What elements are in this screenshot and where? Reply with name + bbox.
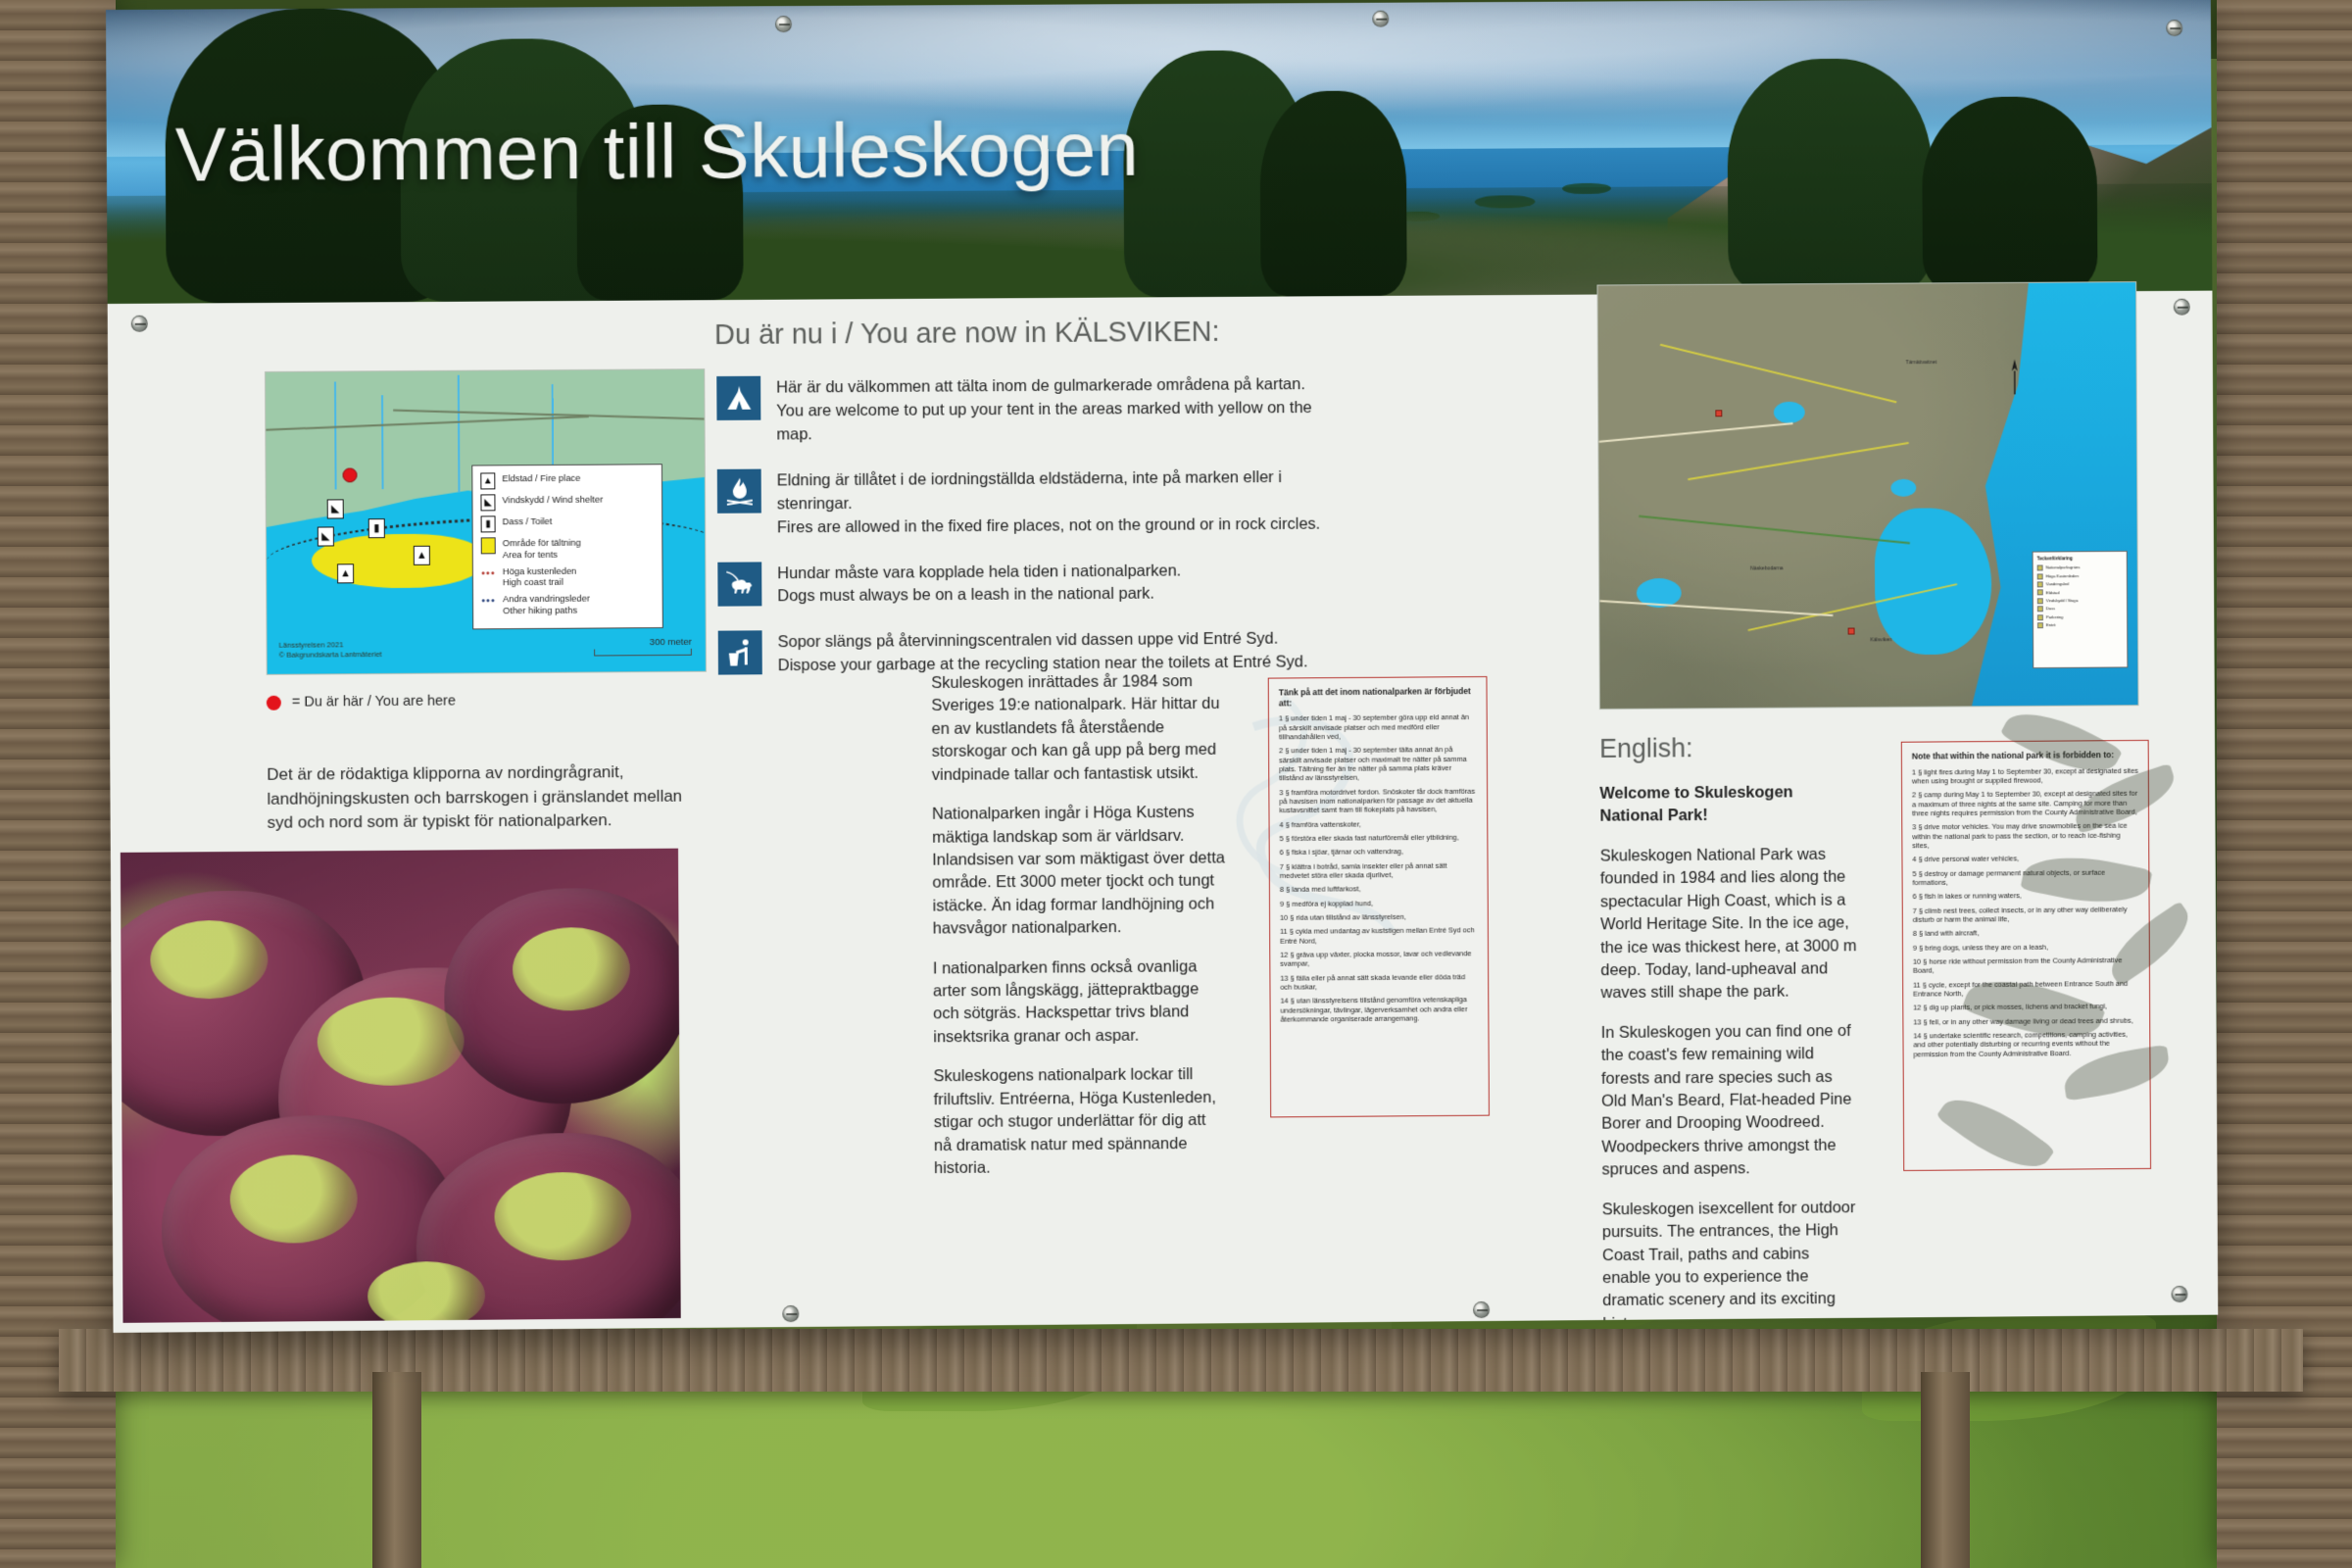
area-map-legend: Teckenförklaring Nationalparksgräns Höga…: [2033, 551, 2129, 668]
map-bay: [1875, 508, 1992, 655]
map-road: [1599, 422, 1793, 443]
rule-english: Dogs must always be on a leash in the na…: [777, 583, 1181, 610]
legend-row: Område för tältning Area for tents: [481, 536, 655, 561]
prohibition-item: 8 § landa med luftfarkost,: [1280, 884, 1478, 895]
rule-english: Fires are allowed in the fixed fire plac…: [777, 513, 1343, 540]
swedish-paragraph: Nationalparken ingår i Höga Kustens mäkt…: [932, 802, 1225, 941]
map-pin-shelter: ◣: [318, 526, 334, 546]
legend-swatch: [2037, 622, 2043, 628]
prohibitions-title: Note that within the national park it is…: [1912, 750, 2138, 761]
pine-tree: [1259, 90, 1406, 296]
toilet-icon: ▮: [481, 515, 496, 532]
legend-label: Höga kustenleden High coast trail: [503, 564, 577, 588]
prohibition-item: 3 § drive motor vehicles. You may drive …: [1912, 821, 2138, 851]
map-place-label: Tärnättvattnet: [1906, 360, 1937, 366]
prohibition-item: 11 § cykla med undantag av kuststigen me…: [1280, 926, 1478, 946]
outdoor-scene: Välkommen till Skuleskogen ▮: [0, 0, 2352, 1568]
legend-swatch: [2037, 598, 2043, 604]
legend-label: Höga Kustenleden: [2046, 573, 2079, 579]
legend-row: Dass: [2037, 606, 2123, 612]
rule-text: Här är du välkommen att tälta inom de gu…: [776, 372, 1342, 447]
hero-photo: Välkommen till Skuleskogen: [106, 0, 2212, 304]
sign-leg-left: [372, 1372, 421, 1568]
map-trail: [1660, 344, 1897, 404]
legend-label: Eldstad / Fire place: [502, 472, 580, 484]
you-are-here-marker: [342, 467, 357, 482]
swedish-paragraph: Skuleskogens nationalpark lockar till fr…: [933, 1063, 1226, 1180]
swedish-body-text: Skuleskogen inrättades år 1984 som Sveri…: [931, 670, 1227, 1198]
prohibition-item: 3 § framföra motordrivet fordon. Snöskot…: [1279, 787, 1477, 815]
legend-label: Dass / Toilet: [503, 515, 553, 527]
rock-photo: [121, 849, 681, 1323]
prohibition-item: 14 § utan länsstyrelsens tillstånd genom…: [1280, 995, 1478, 1023]
map-pin-fireplace: ▲: [414, 546, 430, 565]
legend-row: Parkering: [2037, 613, 2123, 620]
legend-row: ••• Andra vandringsleder Other hiking pa…: [481, 592, 655, 616]
prohibition-item: 1 § under tiden 1 maj - 30 september gör…: [1279, 712, 1477, 741]
legend-label: Vindskydd / Wind shelter: [502, 494, 603, 506]
prohibition-item: 13 § fell, or in any other way damage li…: [1913, 1015, 2139, 1026]
red-dots-icon: •••: [481, 565, 496, 582]
dog-on-leash-icon: [717, 562, 761, 606]
prohibition-item: 6 § fiska i sjöar, tjärnar och vattendra…: [1280, 847, 1478, 857]
map-road: [1599, 600, 1833, 616]
rule-swedish: Här är du välkommen att tälta inom de gu…: [776, 373, 1342, 401]
prohibition-item: 7 § climb nest trees, collect insects, o…: [1913, 905, 2139, 924]
screw: [2166, 20, 2182, 36]
geology-description: Det är de rödaktiga klipporna av nording…: [267, 760, 688, 836]
prohibitions-title: Tänk på att det inom nationalparken är f…: [1279, 686, 1477, 709]
map-pin-shelter: ◣: [327, 499, 344, 518]
map-pin-toilet: ▮: [368, 518, 385, 538]
legend-row: Vindskydd / Stuga: [2037, 598, 2123, 605]
map-entrance-marker: [1715, 410, 1722, 416]
you-are-here-key: = Du är här / You are here: [267, 693, 456, 710]
legend-label: Vindskydd / Stuga: [2046, 598, 2079, 604]
legend-swatch: [2037, 606, 2043, 612]
litter-bin-icon: [718, 631, 762, 675]
legend-swatch: [2037, 573, 2043, 579]
map-legend: ▲ Eldstad / Fire place ◣ Vindskydd / Win…: [471, 464, 663, 629]
rule-item-fire: Eldning är tillåtet i de iordningställda…: [717, 465, 1343, 540]
legend-row: Vandringsled: [2037, 581, 2123, 588]
rule-english: You are welcome to put up your tent in t…: [776, 397, 1342, 447]
blue-dots-icon: •••: [481, 593, 496, 610]
map-lake: [1890, 479, 1916, 497]
rules-list: Här är du välkommen att tälta inom de gu…: [716, 372, 1343, 701]
red-dot-icon: [267, 695, 281, 710]
legend-row: ▲ Eldstad / Fire place: [480, 471, 654, 489]
legend-label: Vandringsled: [2046, 581, 2069, 587]
english-paragraph: In Skuleskogen you can find one of the c…: [1601, 1020, 1860, 1182]
legend-title: Teckenförklaring: [2037, 556, 2123, 563]
prohibition-item: 10 § horse ride without permission from …: [1913, 955, 2139, 975]
information-sign-board: Välkommen till Skuleskogen ▮: [106, 0, 2218, 1333]
yellow-swatch-icon: [481, 537, 496, 554]
map-scale-bar: [594, 649, 692, 657]
legend-label: Nationalparksgräns: [2046, 565, 2081, 571]
legend-swatch: [2037, 590, 2043, 596]
pine-tree: [1922, 96, 2098, 292]
rule-item-dogs: Hundar måste vara kopplade hela tiden i …: [717, 558, 1343, 610]
prohibition-item: 5 § destroy or damage permanent natural …: [1912, 867, 2138, 887]
prohibition-item: 12 § dig up plants, or pick mosses, lich…: [1913, 1002, 2139, 1012]
prohibition-item: 11 § cycle, except for the coastal path …: [1913, 979, 2139, 999]
english-paragraph: Skuleskogen National Park was founded in…: [1600, 844, 1859, 1005]
legend-row: ••• Höga kustenleden High coast trail: [481, 564, 655, 589]
location-heading: Du är nu i / You are now in KÄLSVIKEN:: [714, 317, 1220, 352]
legend-label: Dass: [2046, 607, 2055, 612]
english-body-text: Welcome to Skuleskogen National Park! Sk…: [1599, 781, 1860, 1333]
screw: [1372, 11, 1389, 27]
map-place-label: Kälsviken: [1870, 637, 1891, 643]
legend-label: Andra vandringsleder Other hiking paths: [503, 593, 590, 616]
compass-icon: [2010, 360, 2020, 397]
map-entrance-marker: [1848, 628, 1855, 635]
english-welcome: Welcome to Skuleskogen National Park!: [1599, 781, 1857, 829]
english-paragraph: Skuleskogen isexcellent for outdoor purs…: [1602, 1197, 1861, 1333]
legend-label: Parkering: [2046, 614, 2063, 620]
legend-label: Område för tältning Area for tents: [503, 537, 581, 561]
sign-leg-right: [1921, 1372, 1970, 1568]
legend-swatch: [2037, 614, 2043, 620]
prohibition-item: 13 § fälla eller på annat sätt skada lev…: [1280, 972, 1478, 992]
prohibition-item: 14 § undertake scientific research, comp…: [1913, 1030, 2139, 1059]
pine-tree: [1727, 58, 1933, 293]
rule-swedish: Eldning är tillåtet i de iordningställda…: [777, 465, 1343, 516]
legend-row: ▮ Dass / Toilet: [481, 514, 655, 532]
prohibition-item: 10 § rida utan tillstånd av länsstyrelse…: [1280, 911, 1478, 922]
prohibition-item: 4 § framföra vattenskoter,: [1279, 818, 1477, 829]
map-scale-label: 300 meter: [650, 637, 692, 648]
prohibition-item: 4 § drive personal water vehicles,: [1912, 854, 2138, 864]
lichen-patch: [367, 1261, 485, 1323]
prohibitions-box-swedish: Tänk på att det inom nationalparken är f…: [1268, 676, 1490, 1117]
legend-row: Entré: [2037, 622, 2123, 629]
prohibition-item: 2 § under tiden 1 maj - 30 september täl…: [1279, 745, 1477, 783]
swedish-paragraph: I nationalparken finns också ovanliga ar…: [933, 955, 1226, 1050]
swedish-paragraph: Skuleskogen inrättades år 1984 som Sveri…: [931, 670, 1224, 787]
campfire-icon: [717, 468, 761, 513]
rule-text: Hundar måste vara kopplade hela tiden i …: [777, 559, 1181, 610]
map-trail: [1688, 442, 1909, 480]
prohibitions-box-english: Note that within the national park it is…: [1901, 740, 2151, 1171]
map-trail: [1639, 515, 1910, 544]
prohibition-item: 12 § gräva upp växter, plocka mossor, la…: [1280, 949, 1478, 968]
legend-row: ◣ Vindskydd / Wind shelter: [480, 493, 654, 511]
english-heading: English:: [1599, 733, 1693, 764]
rule-item-camping: Här är du välkommen att tälta inom de gu…: [716, 372, 1342, 448]
prohibition-item: 8 § land with aircraft,: [1913, 927, 2139, 938]
rule-swedish: Hundar måste vara kopplade hela tiden i …: [777, 560, 1181, 586]
prohibition-item: 9 § bring dogs, unless they are on a lea…: [1913, 942, 2139, 953]
wind-shelter-icon: ◣: [480, 494, 495, 511]
sign-title: Välkommen till Skuleskogen: [175, 105, 1140, 200]
prohibition-item: 5 § förstöra eller skada fast naturförem…: [1280, 833, 1478, 844]
prohibition-item: 7 § klättra i botråd, samla insekter ell…: [1280, 860, 1478, 880]
map-credit: Länsstyrelsen 2021 © Bakgrundskarta Lant…: [279, 640, 382, 660]
rule-text: Eldning är tillåtet i de iordningställda…: [777, 465, 1343, 539]
sign-content: ▮ ▲ ▲ ◣ ◣ ▲ Eldstad / Fire place ◣ Vinds…: [108, 291, 2219, 1333]
map-lake: [1774, 402, 1805, 423]
prohibition-item: 6 § fish in lakes or running waters,: [1913, 891, 2139, 902]
legend-swatch: [2037, 581, 2043, 587]
prohibition-item: 2 § camp during May 1 to September 30, e…: [1912, 789, 2138, 818]
map-pin-fireplace: ▲: [337, 563, 354, 583]
prohibition-item: 9 § medföra ej kopplad hund,: [1280, 898, 1478, 908]
national-park-overview-map: Tärnättvattnet Näskebodarna Kälsviken Te…: [1596, 281, 2138, 710]
prohibition-item: 1 § light fires during May 1 to Septembe…: [1912, 766, 2138, 786]
fire-place-icon: ▲: [480, 472, 495, 489]
legend-row: Nationalparksgräns: [2037, 564, 2123, 571]
map-place-label: Näskebodarna: [1750, 565, 1784, 571]
you-are-here-label: = Du är här / You are here: [292, 693, 456, 710]
legend-label: Entré: [2046, 622, 2056, 628]
legend-label: Eldstad: [2046, 590, 2060, 596]
legend-row: Höga Kustenleden: [2037, 572, 2123, 579]
legend-row: Eldstad: [2037, 589, 2123, 596]
tent-icon: [716, 376, 760, 420]
legend-swatch: [2037, 565, 2043, 571]
screw: [775, 16, 792, 32]
local-area-map: ▮ ▲ ▲ ◣ ◣ ▲ Eldstad / Fire place ◣ Vinds…: [265, 368, 707, 675]
